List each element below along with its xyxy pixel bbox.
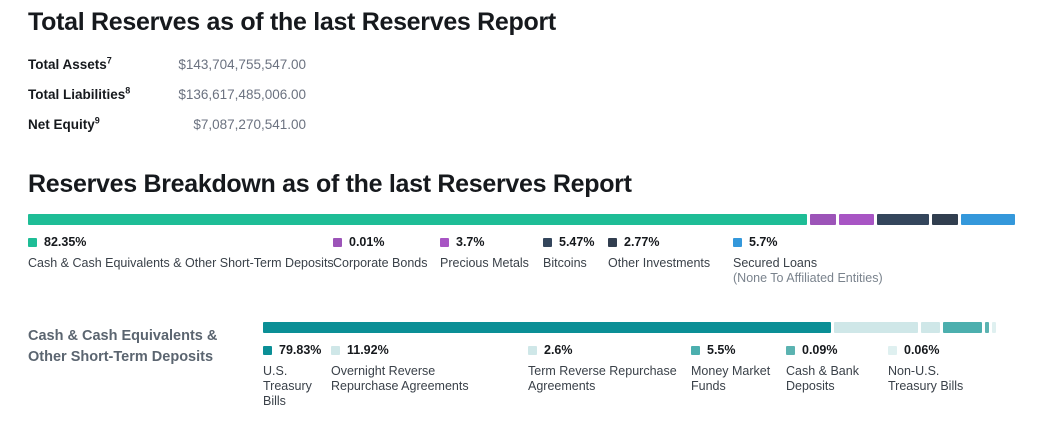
legend-percent-value: 0.06% bbox=[904, 343, 939, 357]
legend-percent-value: 3.7% bbox=[456, 235, 485, 249]
page-title-total-reserves: Total Reserves as of the last Reserves R… bbox=[28, 8, 556, 37]
bar-segment-cash-3[interactable] bbox=[943, 322, 982, 333]
legend-percent-value: 5.5% bbox=[707, 343, 736, 357]
net-equity-footnote: 9 bbox=[95, 116, 100, 126]
reserves-breakdown-chart: 82.35%Cash & Cash Equivalents & Other Sh… bbox=[28, 214, 989, 225]
legend-percent-value: 5.47% bbox=[559, 235, 594, 249]
total-assets-value: $143,704,755,547.00 bbox=[146, 57, 306, 72]
legend-item-breakdown-4[interactable]: 2.77%Other Investments bbox=[608, 235, 710, 271]
bar-segment-breakdown-1[interactable] bbox=[810, 214, 836, 225]
legend-swatch-icon bbox=[786, 346, 795, 355]
total-liabilities-label: Total Liabilities8 bbox=[28, 87, 146, 102]
legend-percent-value: 79.83% bbox=[279, 343, 321, 357]
legend-percent-row: 0.06% bbox=[888, 343, 963, 357]
table-row: Net Equity9 $7,087,270,541.00 bbox=[28, 117, 306, 147]
legend-percent-value: 2.77% bbox=[624, 235, 659, 249]
legend-swatch-icon bbox=[543, 238, 552, 247]
bar-segment-cash-0[interactable] bbox=[263, 322, 831, 333]
legend-swatch-icon bbox=[331, 346, 340, 355]
cash-equivalents-chart: 79.83%U.S. Treasury Bills11.92%Overnight… bbox=[263, 322, 989, 333]
legend-item-breakdown-0[interactable]: 82.35%Cash & Cash Equivalents & Other Sh… bbox=[28, 235, 334, 271]
legend-category-label: U.S. Treasury Bills bbox=[263, 364, 321, 409]
legend-item-breakdown-1[interactable]: 0.01%Corporate Bonds bbox=[333, 235, 428, 271]
legend-percent-row: 0.01% bbox=[333, 235, 428, 249]
legend-category-label: Secured Loans bbox=[733, 256, 883, 271]
legend-category-label: Non-U.S. Treasury Bills bbox=[888, 364, 963, 394]
legend-item-cash-5[interactable]: 0.06%Non-U.S. Treasury Bills bbox=[888, 343, 963, 394]
net-equity-label-text: Net Equity bbox=[28, 117, 95, 132]
legend-item-cash-1[interactable]: 11.92%Overnight Reverse Repurchase Agree… bbox=[331, 343, 469, 394]
bar-segment-breakdown-5[interactable] bbox=[961, 214, 1015, 225]
bar-segment-breakdown-3[interactable] bbox=[877, 214, 929, 225]
legend-item-cash-3[interactable]: 5.5%Money Market Funds bbox=[691, 343, 770, 394]
net-equity-value: $7,087,270,541.00 bbox=[146, 117, 306, 132]
legend-swatch-icon bbox=[263, 346, 272, 355]
legend-percent-value: 2.6% bbox=[544, 343, 573, 357]
total-liabilities-value: $136,617,485,006.00 bbox=[146, 87, 306, 102]
legend-swatch-icon bbox=[333, 238, 342, 247]
legend-percent-row: 2.77% bbox=[608, 235, 710, 249]
legend-category-label: Other Investments bbox=[608, 256, 710, 271]
bar-segment-cash-1[interactable] bbox=[834, 322, 919, 333]
legend-percent-row: 2.6% bbox=[528, 343, 677, 357]
total-liabilities-label-text: Total Liabilities bbox=[28, 87, 125, 102]
bar-segment-breakdown-2[interactable] bbox=[839, 214, 874, 225]
legend-swatch-icon bbox=[691, 346, 700, 355]
legend-swatch-icon bbox=[888, 346, 897, 355]
net-equity-label: Net Equity9 bbox=[28, 117, 146, 132]
legend-category-label: Money Market Funds bbox=[691, 364, 770, 394]
cash-equivalents-caption: Cash & Cash Equivalents & Other Short-Te… bbox=[28, 326, 243, 368]
total-assets-label-text: Total Assets bbox=[28, 57, 107, 72]
legend-percent-row: 79.83% bbox=[263, 343, 321, 357]
legend-category-label: Corporate Bonds bbox=[333, 256, 428, 271]
legend-percent-row: 0.09% bbox=[786, 343, 859, 357]
legend-swatch-icon bbox=[608, 238, 617, 247]
legend-percent-row: 82.35% bbox=[28, 235, 334, 249]
legend-category-label: Precious Metals bbox=[440, 256, 529, 271]
stacked-bar-cash bbox=[263, 322, 989, 333]
bar-segment-breakdown-0[interactable] bbox=[28, 214, 807, 225]
bar-segment-cash-5[interactable] bbox=[992, 322, 996, 333]
legend-swatch-icon bbox=[28, 238, 37, 247]
legend-percent-row: 5.7% bbox=[733, 235, 883, 249]
total-assets-footnote: 7 bbox=[107, 56, 112, 66]
bar-segment-cash-2[interactable] bbox=[921, 322, 939, 333]
legend-percent-value: 5.7% bbox=[749, 235, 778, 249]
legend-item-breakdown-2[interactable]: 3.7%Precious Metals bbox=[440, 235, 529, 271]
legend-percent-row: 11.92% bbox=[331, 343, 469, 357]
legend-category-label: Cash & Cash Equivalents & Other Short-Te… bbox=[28, 256, 334, 271]
table-row: Total Liabilities8 $136,617,485,006.00 bbox=[28, 87, 306, 117]
legend-item-cash-2[interactable]: 2.6%Term Reverse Repurchase Agreements bbox=[528, 343, 677, 394]
legend-percent-row: 5.5% bbox=[691, 343, 770, 357]
legend-percent-row: 3.7% bbox=[440, 235, 529, 249]
legend-category-label: Overnight Reverse Repurchase Agreements bbox=[331, 364, 469, 394]
legend-swatch-icon bbox=[528, 346, 537, 355]
legend-item-cash-0[interactable]: 79.83%U.S. Treasury Bills bbox=[263, 343, 321, 409]
page-title-reserves-breakdown: Reserves Breakdown as of the last Reserv… bbox=[28, 170, 632, 199]
bar-segment-breakdown-4[interactable] bbox=[932, 214, 958, 225]
legend-percent-value: 0.01% bbox=[349, 235, 384, 249]
legend-category-label: Term Reverse Repurchase Agreements bbox=[528, 364, 677, 394]
legend-swatch-icon bbox=[440, 238, 449, 247]
legend-percent-value: 82.35% bbox=[44, 235, 86, 249]
totals-table: Total Assets7 $143,704,755,547.00 Total … bbox=[28, 57, 306, 147]
legend-percent-row: 5.47% bbox=[543, 235, 594, 249]
legend-item-cash-4[interactable]: 0.09%Cash & Bank Deposits bbox=[786, 343, 859, 394]
stacked-bar-breakdown bbox=[28, 214, 989, 225]
legend-percent-value: 0.09% bbox=[802, 343, 837, 357]
legend-category-label: Bitcoins bbox=[543, 256, 594, 271]
legend-percent-value: 11.92% bbox=[347, 343, 389, 357]
bar-segment-cash-4[interactable] bbox=[985, 322, 989, 333]
legend-item-breakdown-3[interactable]: 5.47%Bitcoins bbox=[543, 235, 594, 271]
legend-item-breakdown-5[interactable]: 5.7%Secured Loans(None To Affiliated Ent… bbox=[733, 235, 883, 286]
total-assets-label: Total Assets7 bbox=[28, 57, 146, 72]
total-liabilities-footnote: 8 bbox=[125, 86, 130, 96]
legend-category-sublabel: (None To Affiliated Entities) bbox=[733, 271, 883, 286]
table-row: Total Assets7 $143,704,755,547.00 bbox=[28, 57, 306, 87]
legend-category-label: Cash & Bank Deposits bbox=[786, 364, 859, 394]
legend-swatch-icon bbox=[733, 238, 742, 247]
